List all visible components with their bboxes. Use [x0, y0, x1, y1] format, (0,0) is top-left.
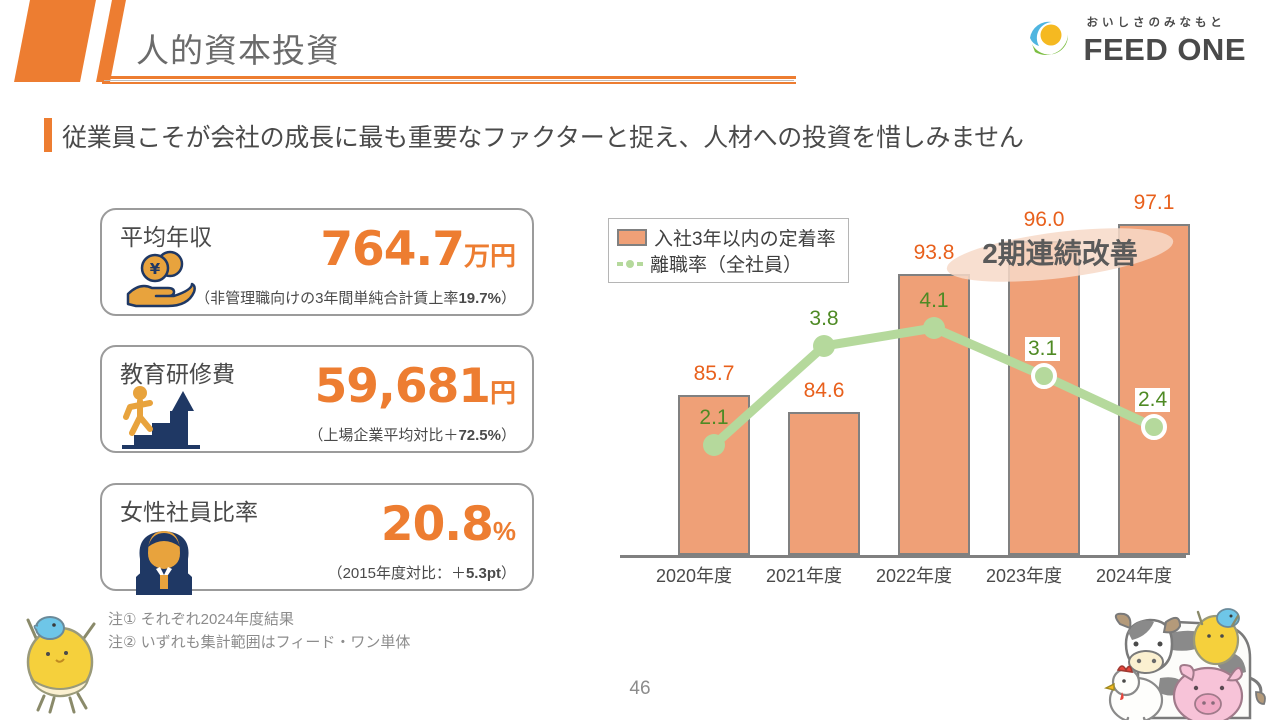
card-value-unit: % — [493, 516, 516, 546]
page-title: 人的資本投資 — [136, 24, 340, 72]
logo-name: FEED ONE — [1084, 34, 1246, 65]
footnote-2: 注② いずれも集計範囲はフィード・ワン単体 — [108, 631, 410, 654]
hand-with-yen-coins-icon: ¥ — [122, 248, 200, 313]
metric-card-training-cost: 教育研修費 59,681円 （上場企業平均対比＋72.5%） — [100, 345, 534, 453]
card-note-suffix: ） — [501, 565, 516, 582]
slide: 人的資本投資 おいしさのみなもと FEED ONE 従業員こそが会社の成長に最も… — [0, 0, 1280, 720]
card-value: 20.8% — [381, 497, 516, 552]
footnotes: 注① それぞれ2024年度結果 注② いずれも集計範囲はフィード・ワン単体 — [108, 608, 410, 655]
card-note: （非管理職向けの3年間単純合計賃上率19.7%） — [195, 287, 516, 308]
card-value: 764.7万円 — [320, 222, 516, 277]
chart-x-axis — [620, 555, 1186, 558]
point-label-2024: 2.4 — [1135, 388, 1170, 412]
dashed-line-swatch-icon — [617, 257, 643, 269]
card-note-prefix: （2015年度対比：＋ — [328, 565, 466, 582]
point-label-2020: 2.1 — [684, 406, 744, 430]
card-note-prefix: （上場企業平均対比＋ — [308, 427, 458, 444]
chart-legend: 入社3年以内の定着率 離職率（全社員） — [608, 218, 849, 283]
card-note-bold: 72.5% — [458, 427, 501, 444]
person-climbing-stairs-icon — [116, 377, 208, 456]
legend-label: 入社3年以内の定着率 — [654, 224, 836, 251]
chick-with-blue-bird-mascot-icon — [14, 604, 114, 719]
card-value-unit: 万円 — [464, 241, 516, 271]
feed-one-circle-logo-icon — [1026, 18, 1072, 64]
metric-card-female-ratio: 女性社員比率 20.8% （2015年度対比：＋5.3pt） — [100, 483, 534, 591]
footnote-1: 注① それぞれ2024年度結果 — [108, 608, 410, 631]
bar-label-2020: 85.7 — [654, 362, 774, 386]
point-label-2022: 4.1 — [904, 289, 964, 313]
header-rule-orange-top — [102, 76, 796, 79]
legend-item-retention: 入社3年以内の定着率 — [617, 224, 836, 250]
card-value-number: 20.8 — [381, 497, 493, 552]
bar-label-2024: 97.1 — [1094, 191, 1214, 215]
point-label-2021: 3.8 — [794, 307, 854, 331]
svg-text:¥: ¥ — [150, 260, 161, 278]
metric-card-average-salary: 平均年収 ¥ 764.7万円 （非管理職向けの3年間単純合計賃上率19.7%） — [100, 208, 534, 316]
bar-label-2021: 84.6 — [764, 379, 884, 403]
card-note: （上場企業平均対比＋72.5%） — [308, 424, 516, 445]
card-value-number: 764.7 — [320, 222, 464, 277]
logo-text: おいしさのみなもと FEED ONE — [1084, 18, 1246, 65]
card-label: 平均年収 — [120, 218, 212, 252]
chart-annotation: 2期連続改善 — [940, 218, 1180, 288]
card-value: 59,681円 — [315, 359, 516, 414]
annotation-text: 2期連続改善 — [940, 232, 1180, 272]
card-note-suffix: ） — [501, 427, 516, 444]
card-note-bold: 5.3pt — [466, 565, 501, 582]
logo-tagline: おいしさのみなもと — [1084, 18, 1246, 30]
businesswoman-icon — [126, 519, 202, 600]
company-logo: おいしさのみなもと FEED ONE — [1026, 18, 1246, 65]
header-accent-shape-thin — [96, 0, 126, 82]
subtitle: 従業員こそが会社の成長に最も重要なファクターと捉え、人材への投資を惜しみません — [62, 118, 1024, 154]
point-label-2023: 3.1 — [1025, 337, 1060, 361]
xtick-2024: 2024年度 — [1069, 562, 1199, 588]
card-value-number: 59,681 — [315, 359, 490, 414]
legend-label: 離職率（全社員） — [650, 250, 802, 277]
header-rule-orange-bottom — [102, 82, 796, 84]
legend-item-turnover: 離職率（全社員） — [617, 250, 836, 276]
card-note: （2015年度対比：＋5.3pt） — [328, 562, 516, 583]
card-note-bold: 19.7% — [458, 290, 501, 307]
header-rule-gray — [104, 80, 794, 81]
header-accent-shape-wide — [14, 0, 96, 82]
card-value-unit: 円 — [490, 378, 516, 408]
farm-animals-mascot-icon — [1098, 600, 1274, 725]
subtitle-accent-bar — [44, 118, 52, 152]
bar-swatch-icon — [617, 229, 647, 246]
card-note-prefix: （非管理職向けの3年間単純合計賃上率 — [195, 290, 458, 307]
page-number: 46 — [0, 678, 1280, 700]
card-note-suffix: ） — [501, 290, 516, 307]
